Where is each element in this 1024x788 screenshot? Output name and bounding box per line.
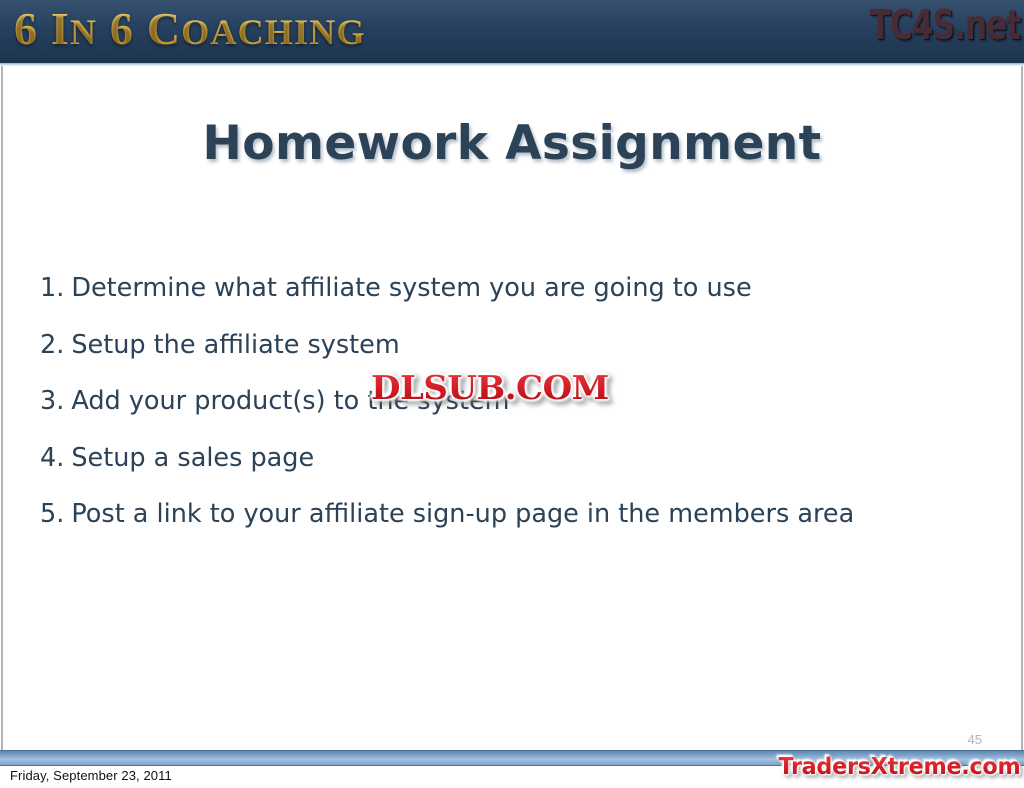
dlsub-watermark: DLSUB.COM <box>371 371 609 406</box>
tradersxtreme-watermark: TradersXtreme.com <box>778 754 1020 780</box>
header-underline-divider <box>0 63 1024 66</box>
list-item: 2.Setup the affiliate system <box>40 333 984 359</box>
list-item-text: Post a link to your affiliate sign-up pa… <box>71 499 854 529</box>
list-item-number: 3. <box>40 386 64 416</box>
list-item: 5.Post a link to your affiliate sign-up … <box>40 502 984 528</box>
list-item: 1.Determine what affiliate system you ar… <box>40 276 984 302</box>
slide-page-number: 45 <box>968 732 982 747</box>
slide-header-banner: 6 IN 6 COACHING TC4S.net <box>0 0 1024 63</box>
list-item-text: Setup a sales page <box>71 443 314 473</box>
list-item: 4.Setup a sales page <box>40 446 984 472</box>
list-item-number: 2. <box>40 330 64 360</box>
footer-date: Friday, September 23, 2011 <box>10 768 172 783</box>
list-item-text: Setup the affiliate system <box>71 330 399 360</box>
homework-steps-list: 1.Determine what affiliate system you ar… <box>40 276 984 559</box>
tc4s-site-logo: TC4S.net <box>869 1 1020 49</box>
page-title: Homework Assignment <box>0 116 1024 171</box>
list-item-number: 4. <box>40 443 64 473</box>
brand-logo-text: 6 IN 6 COACHING <box>14 3 366 54</box>
brand-logo: 6 IN 6 COACHING <box>14 4 366 54</box>
list-item-number: 5. <box>40 499 64 529</box>
presentation-slide: 6 IN 6 COACHING TC4S.net Homework Assign… <box>0 0 1024 788</box>
list-item-text: Determine what affiliate system you are … <box>71 273 751 303</box>
list-item-number: 1. <box>40 273 64 303</box>
